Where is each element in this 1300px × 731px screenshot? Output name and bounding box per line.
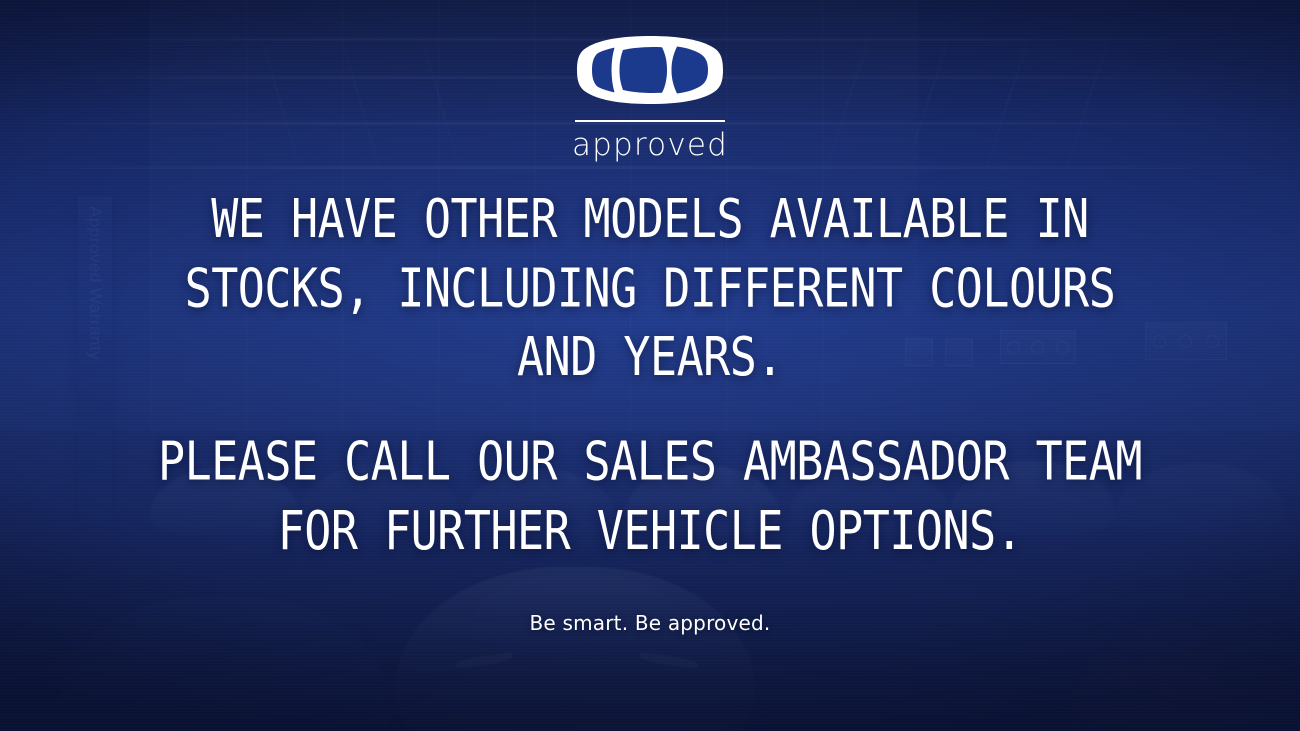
message-line: PLEASE CALL OUR SALES AMBASSADOR TEAM <box>80 426 1220 496</box>
message-line: WE HAVE OTHER MODELS AVAILABLE IN <box>150 185 1150 254</box>
slide-canvas: Approved Warranty <box>0 0 1300 731</box>
message-line: AND YEARS. <box>150 323 1150 392</box>
message-paragraph-2: PLEASE CALL OUR SALES AMBASSADOR TEAM FO… <box>80 426 1220 566</box>
message-line: STOCKS, INCLUDING DIFFERENT COLOURS <box>150 254 1150 323</box>
logo-divider <box>575 120 725 122</box>
brand-tagline: Be smart. Be approved. <box>530 611 771 635</box>
slide-content: approved WE HAVE OTHER MODELS AVAILABLE … <box>0 0 1300 731</box>
brand-logo: approved <box>572 34 728 161</box>
car-top-view-icon <box>576 34 724 106</box>
brand-wordmark: approved <box>572 130 728 161</box>
message-line: FOR FURTHER VEHICLE OPTIONS. <box>80 496 1220 566</box>
message-paragraph-1: WE HAVE OTHER MODELS AVAILABLE IN STOCKS… <box>150 185 1150 392</box>
